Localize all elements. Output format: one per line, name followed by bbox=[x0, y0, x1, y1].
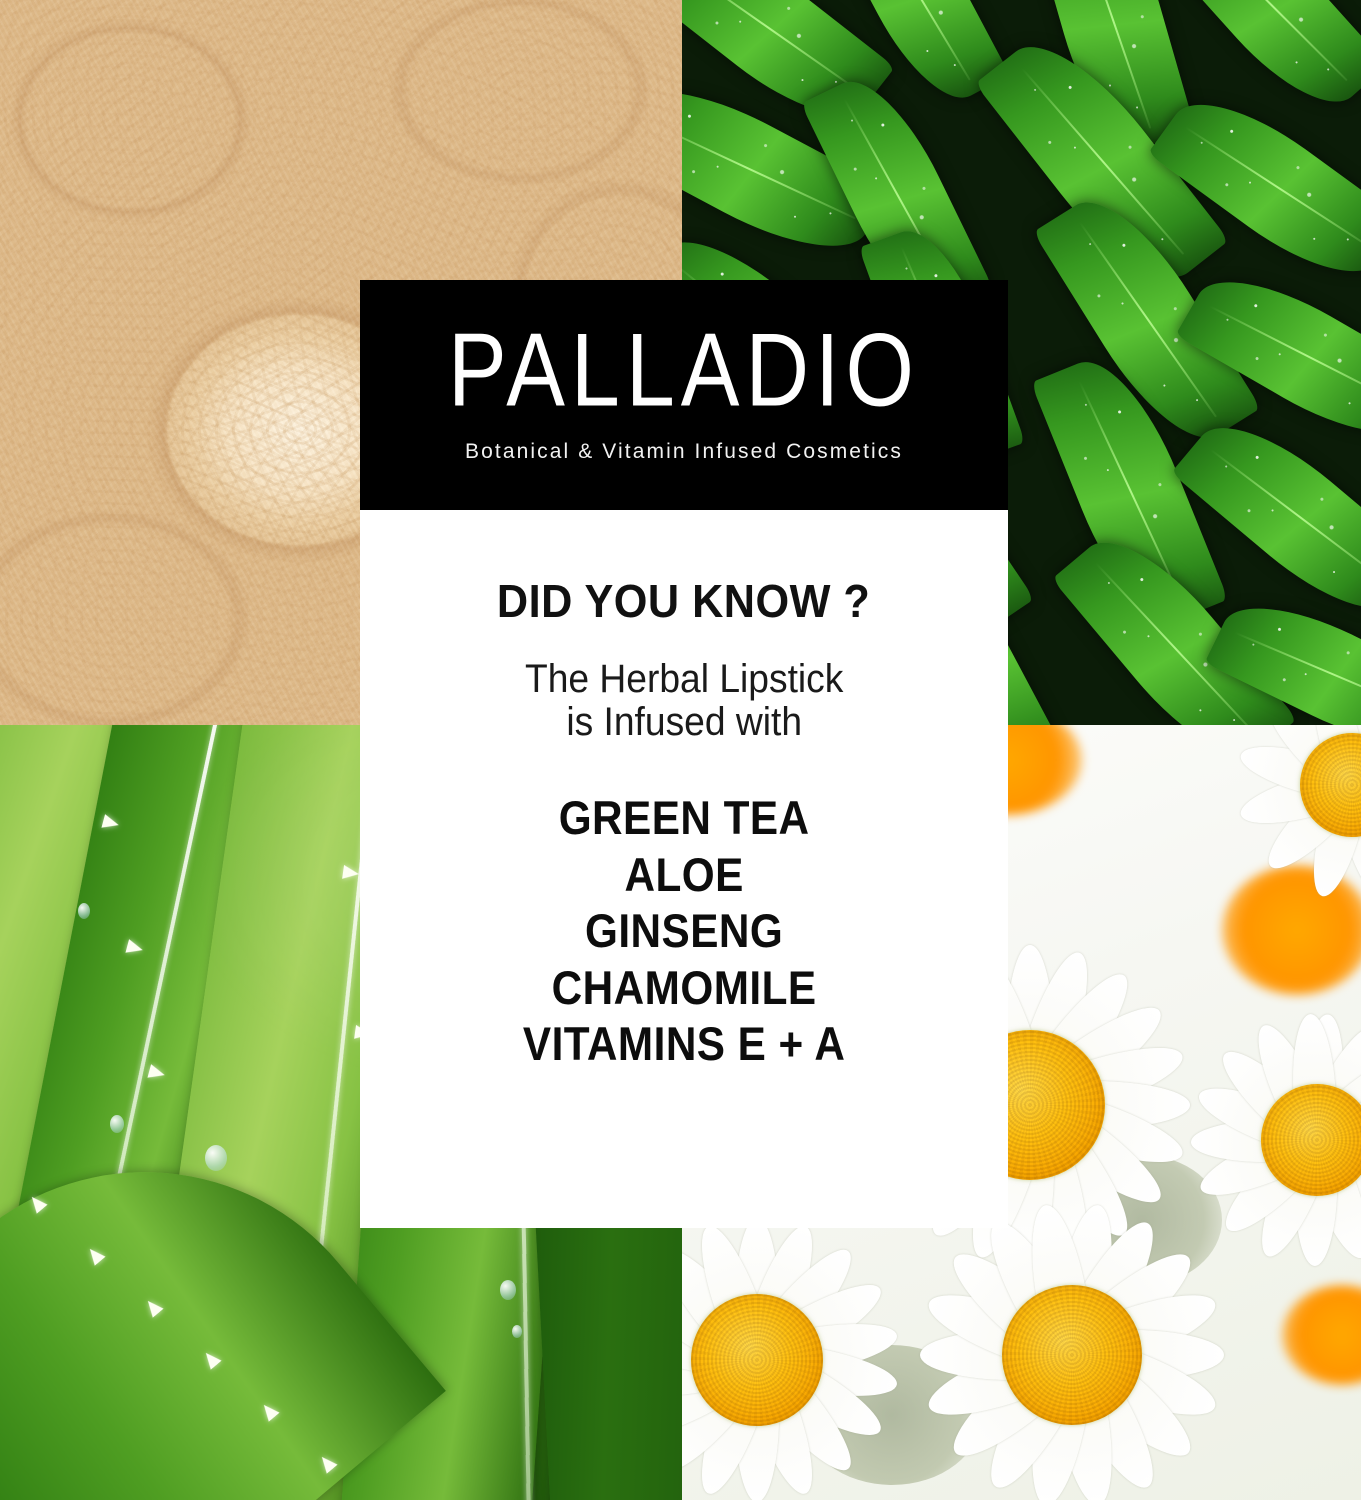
product-infographic-poster: PALLADIO Botanical & Vitamin Infused Cos… bbox=[0, 0, 1361, 1500]
info-card: PALLADIO Botanical & Vitamin Infused Cos… bbox=[360, 280, 1008, 1228]
subtitle-line-2: is Infused with bbox=[525, 701, 843, 744]
list-item: GREEN TEA bbox=[523, 790, 845, 846]
daisy-flower bbox=[1202, 725, 1361, 935]
brand-tagline: Botanical & Vitamin Infused Cosmetics bbox=[465, 440, 903, 464]
list-item: ALOE bbox=[523, 847, 845, 903]
ingredient-list: GREEN TEA ALOE GINSENG CHAMOMILE VITAMIN… bbox=[505, 790, 863, 1072]
subtitle: The Herbal Lipstick is Infused with bbox=[525, 658, 843, 744]
brand-banner: PALLADIO Botanical & Vitamin Infused Cos… bbox=[360, 280, 1008, 510]
daisy-center bbox=[1261, 1084, 1361, 1196]
page-title: DID YOU KNOW ? bbox=[497, 574, 870, 628]
daisy-center bbox=[1002, 1285, 1142, 1425]
list-item: CHAMOMILE bbox=[523, 960, 845, 1016]
list-item: GINSENG bbox=[523, 903, 845, 959]
brand-logo: PALLADIO bbox=[448, 318, 920, 422]
list-item: VITAMINS E + A bbox=[523, 1016, 845, 1072]
daisy-center bbox=[691, 1294, 823, 1426]
subtitle-line-1: The Herbal Lipstick bbox=[525, 658, 843, 701]
info-card-body: DID YOU KNOW ? The Herbal Lipstick is In… bbox=[360, 510, 1008, 1228]
